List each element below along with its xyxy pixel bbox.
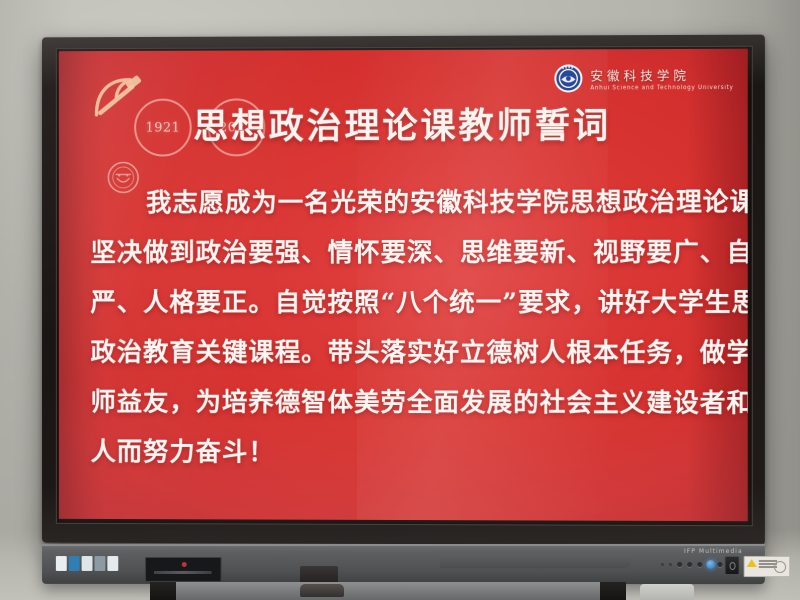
control-tick-1 — [661, 563, 664, 566]
control-button-vol-down[interactable] — [697, 562, 702, 567]
university-name-block: 安徽科技学院 Anhui Science and Technology Univ… — [590, 65, 733, 92]
wall-mount-knob — [300, 584, 344, 597]
university-crest-icon — [553, 63, 583, 93]
sticker-serial-label — [107, 556, 118, 571]
bezel-edge-line — [42, 544, 765, 546]
oath-line-3: 严、人格要正。自觉按照“八个统一”要求，讲好大学生思想 — [91, 278, 717, 328]
panel-black-nameplate — [145, 557, 221, 582]
control-button-ch-down[interactable] — [717, 562, 722, 567]
oath-line-1: 我志愿成为一名光荣的安徽科技学院思想政治理论课教师， — [91, 177, 717, 228]
control-button-menu[interactable] — [677, 562, 682, 567]
power-button[interactable] — [724, 556, 739, 575]
wall-mount-leg-left — [150, 582, 176, 600]
university-name-en: Anhui Science and Technology University — [590, 85, 733, 92]
oath-line-2: 坚决做到政治要强、情怀要深、思维要新、视野要广、自律要 — [91, 228, 717, 278]
photo-scene: 1921 2021 — [0, 0, 800, 600]
power-icon — [730, 562, 736, 570]
oath-line-4: 政治教育关键课程。带头落实好立德树人根本任务，做学生良 — [91, 328, 717, 379]
display-screen[interactable]: 1921 2021 — [59, 49, 748, 521]
panel-control-buttons[interactable] — [661, 562, 733, 567]
warning-triangle-icon — [747, 559, 757, 567]
warning-label — [744, 556, 790, 577]
oath-body: 我志愿成为一名光荣的安徽科技学院思想政治理论课教师， 坚决做到政治要强、情怀要深… — [91, 177, 717, 478]
sticker-model-label — [82, 556, 93, 571]
control-tick-2 — [669, 563, 672, 566]
wall-mount-bar — [176, 582, 600, 600]
speaker-grille — [440, 555, 631, 568]
oath-title: 思想政治理论课教师誓词 — [59, 97, 748, 150]
wall-mount-leg-right — [600, 582, 626, 600]
control-button-source[interactable] — [687, 562, 692, 567]
nameplate-dot — [182, 562, 187, 567]
panel-stickers — [56, 556, 118, 571]
sticker-spec-label — [94, 556, 105, 571]
power-indicator-led — [706, 560, 715, 569]
panel-brand-text: IFP Multimedia — [684, 548, 743, 555]
sticker-certification-label — [69, 556, 80, 571]
panel-lower-bezel: IFP Multimedia — [42, 544, 765, 584]
oath-line-5: 师益友，为培养德智体美劳全面发展的社会主义建设者和接班 — [91, 378, 717, 429]
nameplate-text-line — [154, 571, 212, 574]
sticker-energy-label — [56, 556, 67, 571]
interactive-flat-panel-display[interactable]: 1921 2021 — [42, 35, 765, 546]
university-name-cn: 安徽科技学院 — [590, 65, 733, 85]
warning-circle-icon — [774, 561, 786, 573]
university-logo: 安徽科技学院 Anhui Science and Technology Univ… — [553, 63, 733, 94]
wall-plate — [640, 584, 694, 600]
oath-line-6: 人而努力奋斗！ — [91, 427, 717, 479]
